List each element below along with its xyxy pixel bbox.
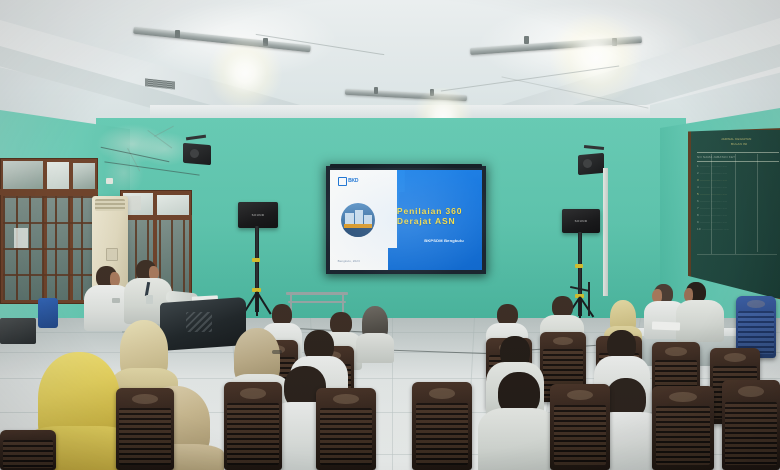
slide-photo-ground bbox=[341, 228, 375, 237]
air-conditioner-grill-icon bbox=[95, 199, 125, 211]
ceiling-light-stem-1a bbox=[175, 30, 180, 38]
window-left-pane-2 bbox=[47, 162, 69, 190]
chair-mid-7-handle bbox=[724, 353, 746, 362]
chair-front-3-slats bbox=[320, 408, 373, 465]
officer-right-2 bbox=[676, 282, 724, 340]
audience-mid-woman-2-glasses-icon bbox=[272, 350, 282, 354]
speaker-left: SOUND bbox=[238, 202, 278, 228]
equipment-crate bbox=[0, 318, 36, 344]
chair-front-6-handle bbox=[669, 392, 696, 402]
window-left-mullion-h bbox=[0, 189, 98, 195]
chalkboard-col-1 bbox=[711, 154, 712, 254]
projection-screen-top-rail bbox=[330, 164, 482, 168]
slide-title-line1: Penilaian 360 bbox=[397, 206, 479, 216]
chalkboard-col-2 bbox=[735, 154, 736, 254]
chair-front-8-slats bbox=[3, 440, 52, 468]
chair-front-1-slats bbox=[119, 408, 170, 465]
audience-back-center-3-torso bbox=[356, 333, 394, 363]
slide-subtitle: BKPSDM Bengkulu bbox=[424, 238, 464, 243]
back-bench-rail bbox=[288, 301, 346, 303]
presentation-slide: BKD Penilaian 360 Derajat ASN BKPSDM Ben… bbox=[330, 170, 482, 270]
table-papers-right bbox=[652, 322, 680, 331]
chalkboard-row-2: 2 .......... .......... .... bbox=[697, 172, 780, 175]
window-inner-pane-2 bbox=[157, 195, 189, 217]
speaker-right: SOUND bbox=[562, 209, 600, 233]
audience-front-man-2 bbox=[478, 372, 558, 470]
audience-back-center-3 bbox=[356, 306, 394, 362]
slide-title-line2: Derajat ASN bbox=[397, 216, 479, 226]
chalkboard-header-line1: JADWAL KEGIATAN bbox=[721, 138, 780, 141]
chair-front-1[interactable] bbox=[116, 388, 174, 470]
officer-left-1-badge bbox=[112, 298, 120, 303]
chalkboard-row-7: 7 .......... .......... .... bbox=[697, 207, 780, 210]
chair-mid-4-handle bbox=[553, 337, 573, 345]
chair-front-1-handle bbox=[132, 394, 158, 404]
officer-left-2-idcard bbox=[146, 295, 153, 304]
window-left-pane-1 bbox=[3, 161, 43, 189]
audience-front-man-2-torso bbox=[478, 408, 558, 470]
officer-right-2-torso bbox=[676, 300, 724, 342]
chair-front-2-handle bbox=[240, 388, 266, 399]
slide-footer: Bengkulu, 2023 bbox=[338, 259, 360, 263]
chair-front-5-slats bbox=[554, 405, 607, 465]
chair-front-7-handle bbox=[738, 386, 764, 397]
wall-speaker-left-cone-icon bbox=[190, 149, 199, 158]
slide-title: Penilaian 360 Derajat ASN bbox=[397, 206, 479, 226]
chair-blue-handle bbox=[747, 300, 765, 307]
chair-front-4-slats bbox=[416, 403, 469, 465]
wall-speaker-right-cone-icon bbox=[583, 159, 592, 168]
window-poster bbox=[14, 228, 28, 248]
slide-photo-building-2 bbox=[355, 210, 363, 225]
mic-stand-pole bbox=[588, 282, 590, 316]
slide-logo: BKD bbox=[338, 177, 359, 186]
projection-screen: BKD Penilaian 360 Derajat ASN BKPSDM Ben… bbox=[326, 166, 486, 274]
chalkboard-rule-bottom bbox=[697, 254, 777, 255]
chalkboard-header-line2: BULAN INI bbox=[731, 143, 779, 146]
chair-front-6[interactable] bbox=[652, 386, 714, 470]
chalkboard-row-10: 10 .......... .......... .... bbox=[697, 228, 780, 231]
ceiling-light-stem-2a bbox=[524, 36, 529, 44]
chair-front-6-slats bbox=[656, 406, 711, 465]
meeting-room-photo: JADWAL KEGIATAN BULAN INI NO NAMA JABATA… bbox=[0, 0, 780, 470]
chalkboard-row-5: 5 .......... .......... .... bbox=[697, 193, 780, 196]
chair-mid-6-handle bbox=[665, 347, 686, 356]
slide-logo-text: BKD bbox=[348, 179, 358, 184]
window-left-pane-3 bbox=[73, 163, 95, 191]
chair-front-2-slats bbox=[227, 403, 278, 465]
chalkboard-row-4: 4 .......... .......... .... bbox=[697, 186, 780, 189]
chalkboard-row-3: 3 .......... .......... .... bbox=[697, 179, 780, 182]
chair-front-3[interactable] bbox=[316, 388, 376, 470]
speaker-right-knob-upper bbox=[575, 264, 583, 268]
chair-front-3-handle bbox=[333, 394, 359, 404]
chalkboard-row-1: 1 .......... .......... .... bbox=[697, 165, 780, 168]
wall-pipe-right bbox=[603, 168, 608, 296]
chair-front-4[interactable] bbox=[412, 382, 472, 470]
ceiling-light-stem-3b bbox=[430, 89, 434, 96]
chair-front-7-slats bbox=[725, 402, 776, 465]
speaker-right-label: SOUND bbox=[575, 219, 588, 223]
chair-front-2[interactable] bbox=[224, 382, 282, 470]
chair-front-5-handle bbox=[567, 390, 593, 400]
chair-front-8[interactable] bbox=[0, 430, 56, 470]
ceiling-light-stem-3a bbox=[374, 87, 378, 94]
ceiling-light-stem-1b bbox=[263, 38, 268, 46]
chalkboard-row-0: NO NAMA JABATAN KET bbox=[697, 156, 780, 159]
blue-bag bbox=[38, 298, 58, 328]
air-conditioner-panel bbox=[106, 248, 118, 261]
projector-cart-logo bbox=[186, 312, 212, 332]
chair-front-4-handle bbox=[429, 388, 455, 399]
wall-socket[interactable] bbox=[106, 178, 113, 184]
chair-front-7[interactable] bbox=[722, 380, 780, 470]
chalkboard-col-3 bbox=[757, 154, 758, 252]
chalkboard: JADWAL KEGIATAN BULAN INI NO NAMA JABATA… bbox=[688, 128, 780, 300]
speaker-left-label: SOUND bbox=[252, 213, 265, 217]
back-bench-seat bbox=[286, 292, 348, 295]
chalkboard-row-9: 9 .......... .......... .... bbox=[697, 221, 780, 224]
speaker-left-knob-upper bbox=[252, 258, 260, 262]
slide-photo-circle bbox=[341, 203, 375, 237]
chalkboard-row-8: 8 .......... .......... .... bbox=[697, 214, 780, 217]
chalkboard-rule-head bbox=[697, 161, 779, 162]
chair-front-5[interactable] bbox=[550, 384, 610, 470]
chalkboard-row-6: 6 .......... .......... .... bbox=[697, 200, 780, 203]
ceiling-light-stem-2b bbox=[612, 38, 617, 46]
chalkboard-rule-top bbox=[697, 152, 779, 153]
speaker-left-leg-3 bbox=[256, 292, 258, 316]
slide-logo-mark-icon bbox=[338, 177, 347, 186]
